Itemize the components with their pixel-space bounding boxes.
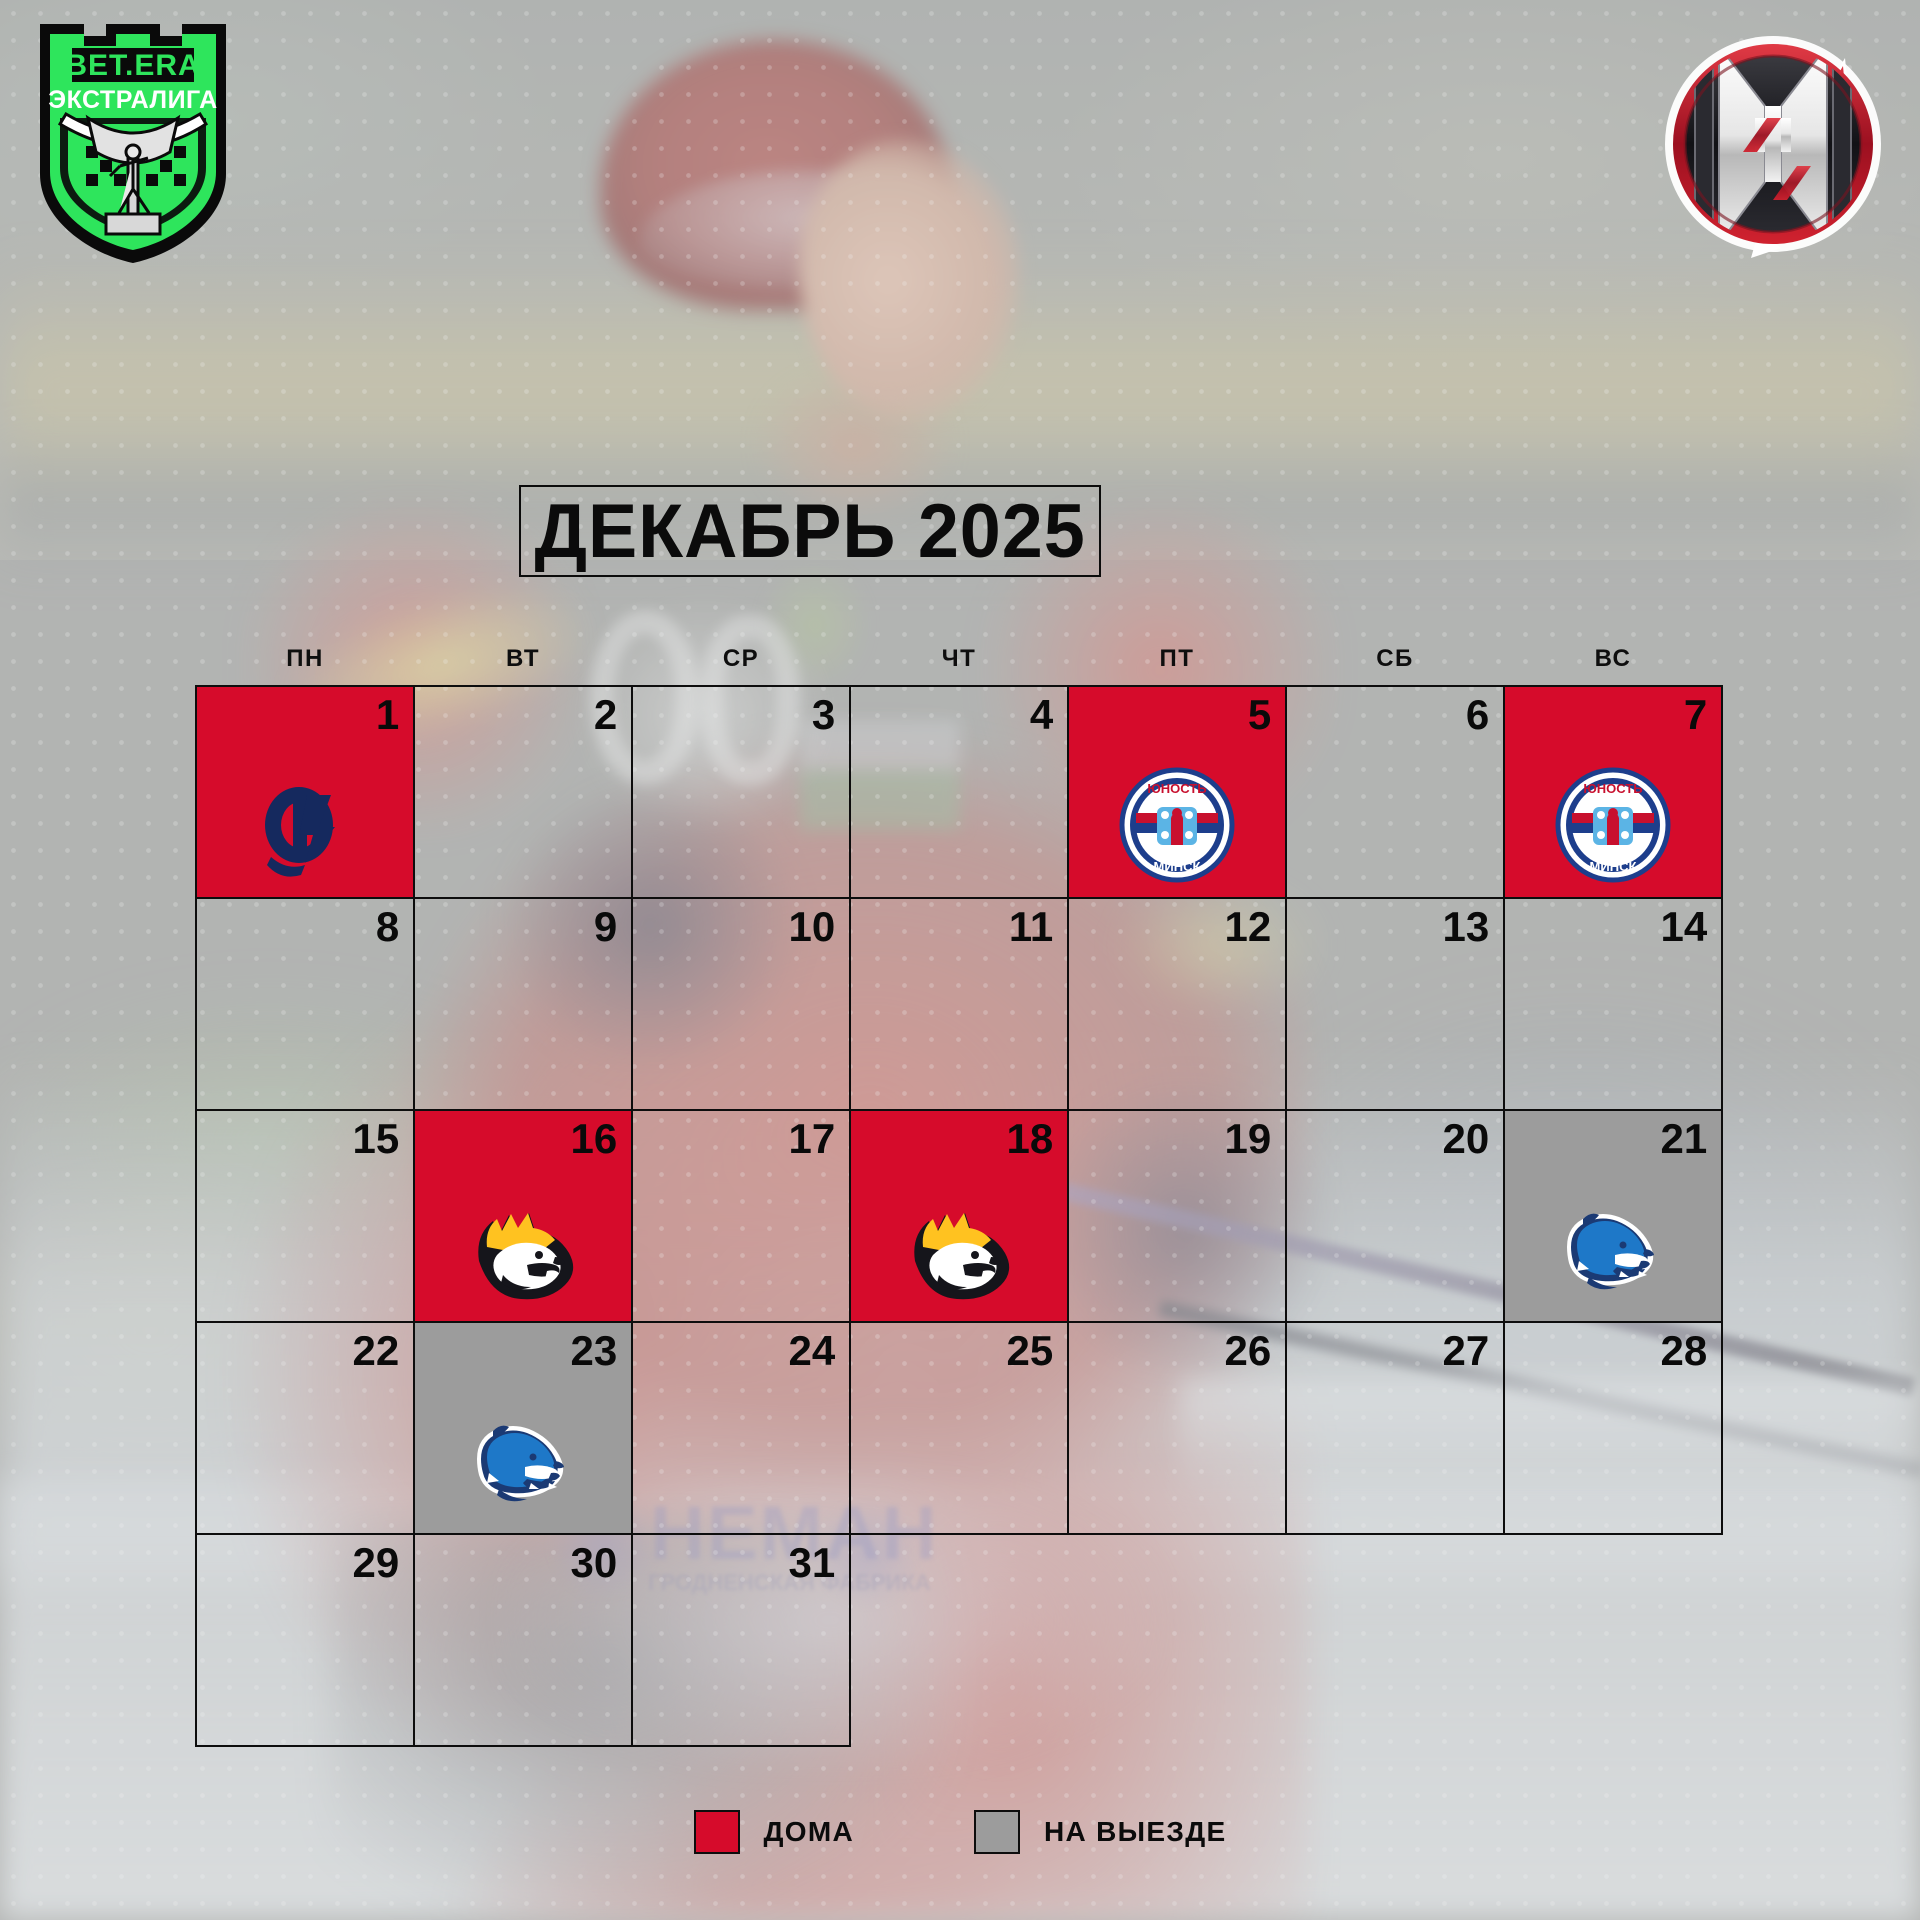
day-number: 10: [789, 905, 836, 949]
day-number: 31: [789, 1541, 836, 1585]
day-number: 12: [1225, 905, 1272, 949]
calendar-day-30: 30: [413, 1533, 634, 1748]
calendar-day-2: 2: [413, 685, 634, 900]
day-number: 23: [571, 1329, 618, 1373]
yunost-minsk-logo: ЮНОСТЬМИНСК: [1117, 765, 1237, 885]
yunost-minsk-logo: ЮНОСТЬМИНСК: [1553, 765, 1673, 885]
neman-grodno-logo: [1655, 22, 1895, 262]
svg-text:ЮНОСТЬ: ЮНОСТЬ: [1147, 781, 1206, 796]
day-number: 22: [353, 1329, 400, 1373]
calendar-day-19: 19: [1067, 1109, 1288, 1324]
calendar-day-17: 17: [631, 1109, 852, 1324]
day-number: 5: [1248, 693, 1271, 737]
day-number: 19: [1225, 1117, 1272, 1161]
calendar-day-5[interactable]: 5ЮНОСТЬМИНСК: [1067, 685, 1288, 900]
day-number: 4: [1030, 693, 1053, 737]
calendar-day-14: 14: [1503, 897, 1724, 1112]
calendar-day-18[interactable]: 18: [849, 1109, 1070, 1324]
legend-swatch-home: [694, 1810, 740, 1854]
calendar-empty-slot: [1503, 1533, 1724, 1748]
day-number: 24: [789, 1329, 836, 1373]
day-number: 20: [1443, 1117, 1490, 1161]
legend-label-away: НА ВЫЕЗДЕ: [1044, 1816, 1226, 1848]
lynx-logo: [463, 1189, 583, 1309]
betera-extraliga-logo: BET.ERA ЭКСТРАЛИГА: [28, 18, 238, 263]
calendar-day-11: 11: [849, 897, 1070, 1112]
calendar-day-6: 6: [1285, 685, 1506, 900]
legend-item-away: НА ВЫЕЗДЕ: [974, 1810, 1226, 1854]
day-number: 13: [1443, 905, 1490, 949]
calendar-day-22: 22: [195, 1321, 416, 1536]
weekday-header-row: ПНВТСРЧТПТСБВС: [196, 645, 1722, 673]
calendar-day-7[interactable]: 7ЮНОСТЬМИНСК: [1503, 685, 1724, 900]
weekday-label-4: ПТ: [1068, 645, 1286, 673]
calendar-day-23[interactable]: 23: [413, 1321, 634, 1536]
calendar-day-27: 27: [1285, 1321, 1506, 1536]
calendar-day-9: 9: [413, 897, 634, 1112]
calendar-empty-slot: [1285, 1533, 1506, 1748]
day-number: 28: [1661, 1329, 1708, 1373]
day-number: 3: [812, 693, 835, 737]
calendar-empty-slot: [1067, 1533, 1288, 1748]
day-number: 16: [571, 1117, 618, 1161]
weekday-label-5: СБ: [1286, 645, 1504, 673]
calendar-day-28: 28: [1503, 1321, 1724, 1536]
day-number: 18: [1007, 1117, 1054, 1161]
calendar-day-29: 29: [195, 1533, 416, 1748]
calendar-day-26: 26: [1067, 1321, 1288, 1536]
day-number: 15: [353, 1117, 400, 1161]
lynx-logo: [899, 1189, 1019, 1309]
day-number: 26: [1225, 1329, 1272, 1373]
weekday-label-2: СР: [632, 645, 850, 673]
calendar-day-20: 20: [1285, 1109, 1506, 1324]
weekday-label-3: ЧТ: [850, 645, 1068, 673]
calendar-empty-slot: [849, 1533, 1070, 1748]
day-number: 30: [571, 1541, 618, 1585]
calendar-day-1[interactable]: 1: [195, 685, 416, 900]
svg-text:BET.ERA: BET.ERA: [65, 49, 200, 82]
day-number: 25: [1007, 1329, 1054, 1373]
day-number: 1: [376, 693, 399, 737]
day-number: 21: [1661, 1117, 1708, 1161]
day-number: 14: [1661, 905, 1708, 949]
day-number: 27: [1443, 1329, 1490, 1373]
weekday-label-6: ВС: [1504, 645, 1722, 673]
calendar-day-25: 25: [849, 1321, 1070, 1536]
page-title: ДЕКАБРЬ 2025: [534, 488, 1085, 575]
day-number: 7: [1684, 693, 1707, 737]
calendar-day-15: 15: [195, 1109, 416, 1324]
day-number: 8: [376, 905, 399, 949]
calendar-day-8: 8: [195, 897, 416, 1112]
calendar-day-24: 24: [631, 1321, 852, 1536]
legend: ДОМАНА ВЫЕЗДЕ: [0, 1810, 1920, 1854]
legend-swatch-away: [974, 1810, 1020, 1854]
legend-item-home: ДОМА: [694, 1810, 854, 1854]
calendar-day-31: 31: [631, 1533, 852, 1748]
calendar-grid[interactable]: 12345ЮНОСТЬМИНСК67ЮНОСТЬМИНСК89101112131…: [196, 686, 1722, 1746]
svg-text:ЭКСТРАЛИГА: ЭКСТРАЛИГА: [48, 86, 217, 114]
day-number: 6: [1466, 693, 1489, 737]
month-title-box: ДЕКАБРЬ 2025: [519, 485, 1101, 577]
svg-text:МИНСК: МИНСК: [1590, 859, 1637, 874]
legend-label-home: ДОМА: [764, 1816, 854, 1848]
weekday-label-0: ПН: [196, 645, 414, 673]
dinamo-molodechno-logo: [245, 765, 365, 885]
day-number: 2: [594, 693, 617, 737]
day-number: 17: [789, 1117, 836, 1161]
calendar-day-13: 13: [1285, 897, 1506, 1112]
day-number: 11: [1009, 905, 1053, 949]
calendar-day-3: 3: [631, 685, 852, 900]
day-number: 29: [353, 1541, 400, 1585]
calendar-day-10: 10: [631, 897, 852, 1112]
calendar-day-4: 4: [849, 685, 1070, 900]
bear-logo: [1553, 1189, 1673, 1309]
calendar-day-12: 12: [1067, 897, 1288, 1112]
day-number: 9: [594, 905, 617, 949]
calendar-day-21[interactable]: 21: [1503, 1109, 1724, 1324]
calendar-day-16[interactable]: 16: [413, 1109, 634, 1324]
svg-text:МИНСК: МИНСК: [1154, 859, 1201, 874]
bear-logo: [463, 1401, 583, 1521]
svg-text:ЮНОСТЬ: ЮНОСТЬ: [1583, 781, 1642, 796]
weekday-label-1: ВТ: [414, 645, 632, 673]
